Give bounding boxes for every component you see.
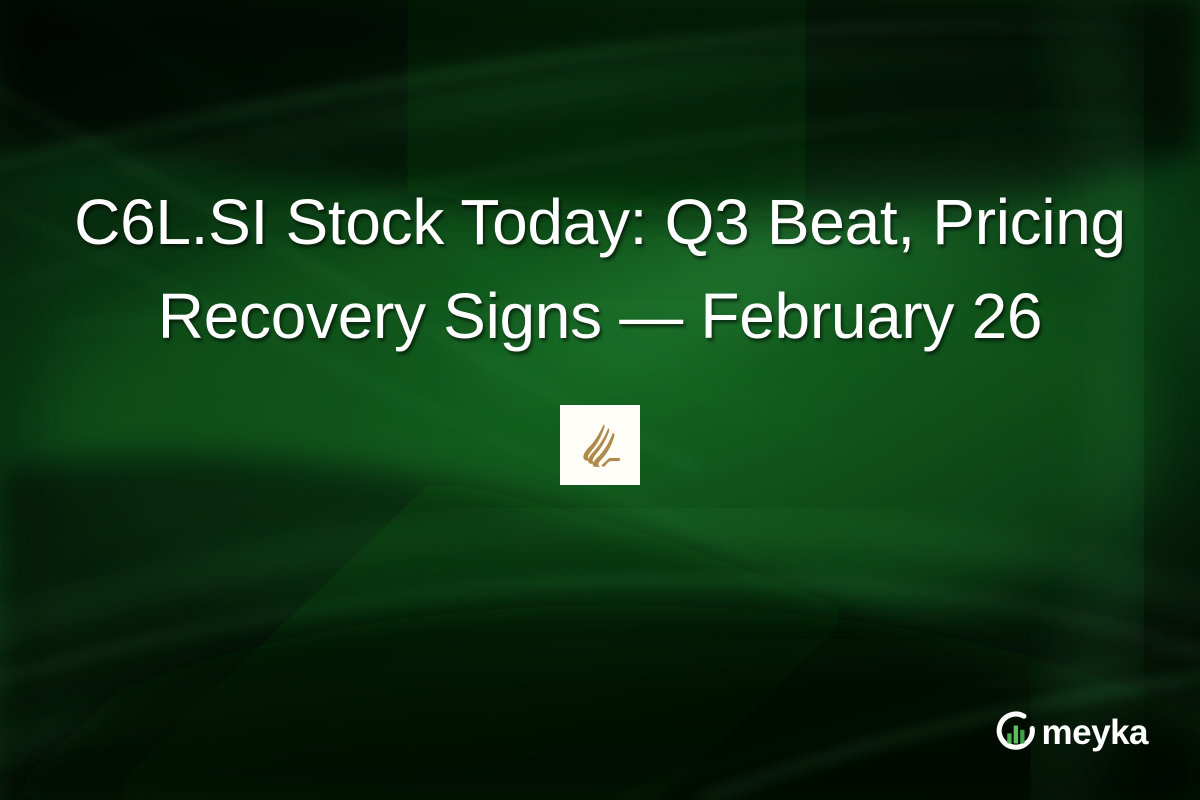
singapore-airlines-bird-icon <box>574 419 626 471</box>
social-share-card: C6L.SI Stock Today: Q3 Beat, Pricing Rec… <box>0 0 1200 800</box>
brand-logo: meyka <box>993 709 1148 755</box>
company-logo <box>560 405 640 485</box>
page-title: C6L.SI Stock Today: Q3 Beat, Pricing Rec… <box>55 175 1145 363</box>
brand-name: meyka <box>1042 715 1148 750</box>
card-content: C6L.SI Stock Today: Q3 Beat, Pricing Rec… <box>0 0 1200 800</box>
meyka-chart-ring-icon <box>993 709 1039 755</box>
